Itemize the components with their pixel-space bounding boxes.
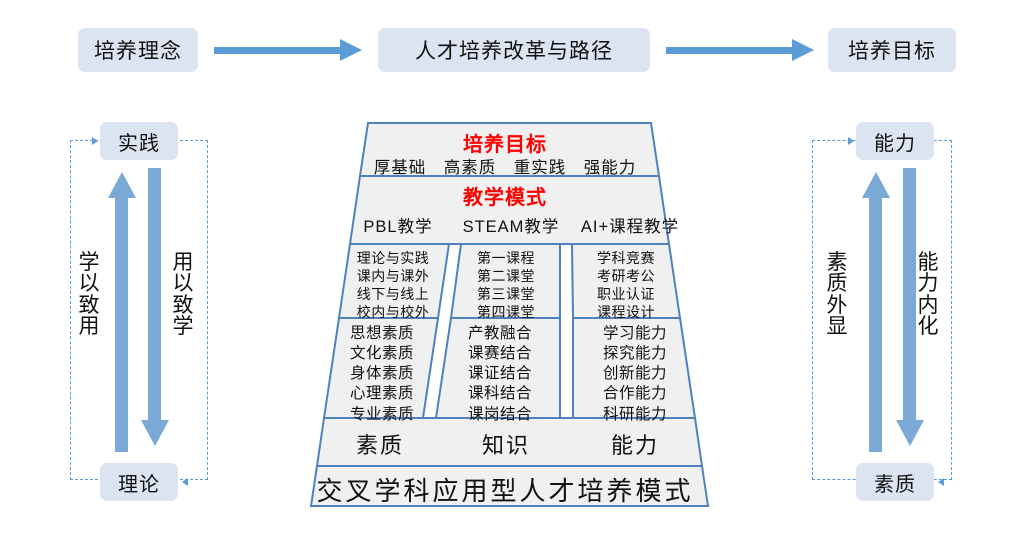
right-cycle-top-arrowhead-icon xyxy=(848,137,854,145)
left-up-arrow-label: 学以致用 xyxy=(76,252,102,338)
vertical-label-char: 外 xyxy=(824,295,850,316)
pyramid-cell-line: 科研能力 xyxy=(577,405,693,425)
vertical-label-char: 以 xyxy=(76,273,102,294)
pyramid-cell-line: 课证结合 xyxy=(441,364,559,384)
pyramid-cell-line: 合作能力 xyxy=(577,384,693,404)
pyramid-tier-5-item-1: 素质 xyxy=(325,428,435,460)
vertical-label-char: 学 xyxy=(170,316,196,337)
pyramid-cell-line: 线下与线上 xyxy=(339,286,447,304)
pyramid-tier-6-label: 交叉学科应用型人才培养模式 xyxy=(255,471,755,508)
pyramid-cell-line: 思想素质 xyxy=(327,324,437,344)
vertical-label-char: 致 xyxy=(170,295,196,316)
flow-box-reform-and-path: 人才培养改革与路径 xyxy=(378,28,650,72)
pyramid-cell-line: 考研考公 xyxy=(572,268,680,286)
vertical-label-char: 显 xyxy=(824,316,850,337)
pyramid-cell-line: 校内与校外 xyxy=(339,304,447,322)
pyramid-tier-2-item-2: STEAM教学 xyxy=(451,213,571,237)
vertical-label-char: 以 xyxy=(170,273,196,294)
down-arrow-shaft xyxy=(148,168,161,420)
pyramid-cell-line: 第三课堂 xyxy=(451,286,561,304)
pyramid-cell-line: 课岗结合 xyxy=(441,405,559,425)
pyramid-cell-line: 理论与实践 xyxy=(339,250,447,268)
left-down-arrow-label: 用以致学 xyxy=(170,252,196,338)
pyramid-tier-2-item-3: AI+课程教学 xyxy=(565,213,695,237)
flow-box-training-concept: 培养理念 xyxy=(78,28,198,72)
right-down-arrow-label: 能力内化 xyxy=(915,252,941,338)
left-cycle-top-label: 实践 xyxy=(100,122,178,160)
right-arrow-icon xyxy=(666,43,814,57)
right-arrow-icon xyxy=(214,43,362,57)
pyramid-cell-line: 第二课堂 xyxy=(451,268,561,286)
vertical-label-char: 能 xyxy=(915,252,941,273)
pyramid-cell-line: 第四课堂 xyxy=(451,304,561,322)
pyramid-tier-3-column-2: 第一课程第二课堂第三课堂第四课堂 xyxy=(451,250,561,322)
left-cycle-bottom-label: 理论 xyxy=(100,463,178,501)
pyramid-tier-3-column-1: 理论与实践课内与课外线下与线上校内与校外 xyxy=(339,250,447,322)
pyramid-tier-2-item-1: PBL教学 xyxy=(338,213,458,237)
vertical-label-char: 力 xyxy=(915,273,941,294)
pyramid-cell-line: 课科结合 xyxy=(441,384,559,404)
pyramid-tier-4-column-2: 产教融合课赛结合课证结合课科结合课岗结合 xyxy=(441,324,559,425)
diagram-canvas: 培养理念 人才培养改革与路径 培养目标 实践 理论 学以致用 用以致学 能力 素… xyxy=(0,0,1018,536)
pyramid-cell-line: 专业素质 xyxy=(327,405,437,425)
pyramid-cell-line: 心理素质 xyxy=(327,384,437,404)
pyramid-tier-3-column-3: 学科竞赛考研考公职业认证课程设计 xyxy=(572,250,680,322)
pyramid-cell-line: 文化素质 xyxy=(327,344,437,364)
arrow-shaft xyxy=(214,47,340,54)
pyramid-cell-line: 课赛结合 xyxy=(441,344,559,364)
vertical-label-char: 用 xyxy=(76,316,102,337)
arrow-shaft xyxy=(666,47,792,54)
vertical-label-char: 致 xyxy=(76,295,102,316)
pyramid-tier-5-item-2: 知识 xyxy=(451,428,561,460)
pyramid-tier-1-items: 厚基础 高素质 重实践 强能力 xyxy=(255,154,755,178)
pyramid-tier-4-column-3: 学习能力探究能力创新能力合作能力科研能力 xyxy=(577,324,693,425)
vertical-label-char: 化 xyxy=(915,316,941,337)
up-arrow-shaft xyxy=(869,198,882,452)
vertical-label-char: 内 xyxy=(915,295,941,316)
pyramid-cell-line: 职业认证 xyxy=(572,286,680,304)
pyramid-cell-line: 身体素质 xyxy=(327,364,437,384)
pyramid-cell-line: 学科竞赛 xyxy=(572,250,680,268)
pyramid-cell-line: 创新能力 xyxy=(577,364,693,384)
vertical-label-char: 用 xyxy=(170,252,196,273)
pyramid-cell-line: 学习能力 xyxy=(577,324,693,344)
up-arrow-icon xyxy=(862,172,890,198)
right-cycle-top-label: 能力 xyxy=(856,122,934,160)
pyramid-tier-1-title: 培养目标 xyxy=(255,128,755,157)
pyramid-cell-line: 课内与课外 xyxy=(339,268,447,286)
right-cycle-bottom-arrowhead-icon xyxy=(938,478,944,486)
right-up-arrow-label: 素质外显 xyxy=(824,252,850,338)
pyramid-cell-line: 课程设计 xyxy=(572,304,680,322)
vertical-label-char: 质 xyxy=(824,273,850,294)
pyramid-cell-line: 探究能力 xyxy=(577,344,693,364)
up-arrow-shaft xyxy=(115,198,128,452)
pyramid-tier-4-column-1: 思想素质文化素质身体素质心理素质专业素质 xyxy=(327,324,437,425)
pyramid-cell-line: 第一课程 xyxy=(451,250,561,268)
down-arrow-icon xyxy=(141,420,169,446)
pyramid-tier-5-item-3: 能力 xyxy=(580,428,690,460)
arrow-head xyxy=(340,39,362,61)
up-arrow-icon xyxy=(108,172,136,198)
left-cycle-top-arrowhead-icon xyxy=(92,137,98,145)
right-cycle-bottom-label: 素质 xyxy=(856,463,934,501)
pyramid-cell-line: 产教融合 xyxy=(441,324,559,344)
vertical-label-char: 素 xyxy=(824,252,850,273)
pyramid-tier-2-title: 教学模式 xyxy=(255,181,755,210)
vertical-label-char: 学 xyxy=(76,252,102,273)
arrow-head xyxy=(792,39,814,61)
left-cycle-bottom-arrowhead-icon xyxy=(182,478,188,486)
flow-box-training-goal: 培养目标 xyxy=(828,28,956,72)
pyramid-diagram: 培养目标 厚基础 高素质 重实践 强能力 教学模式 PBL教学 STEAM教学 … xyxy=(255,118,755,510)
down-arrow-icon xyxy=(896,420,924,446)
